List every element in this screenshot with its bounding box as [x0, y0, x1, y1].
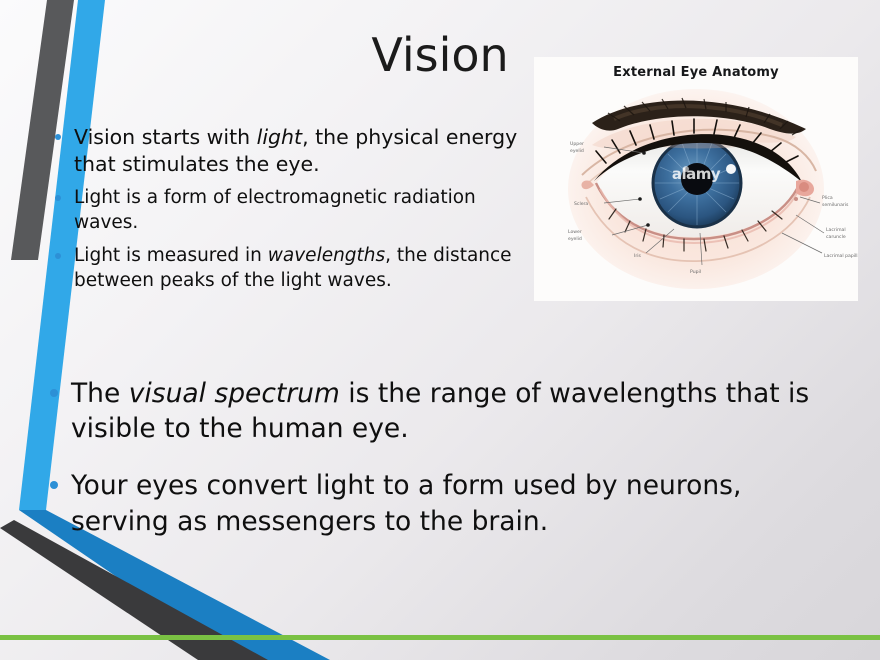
- svg-text:Lacrimal papilla: Lacrimal papilla: [824, 253, 858, 259]
- watermark: alamy: [534, 165, 858, 183]
- svg-text:Sclera: Sclera: [574, 201, 588, 207]
- emphasis-light: light: [257, 125, 302, 149]
- picture-caption: External Eye Anatomy: [534, 65, 858, 80]
- svg-text:eyelid: eyelid: [570, 148, 584, 154]
- green-accent-line: [0, 635, 880, 640]
- emphasis-wavelengths: wavelengths: [268, 245, 385, 266]
- svg-text:Lacrimal: Lacrimal: [826, 227, 846, 233]
- svg-text:eyelid: eyelid: [568, 236, 582, 242]
- bullet-text: The visual spectrum is the range of wave…: [71, 378, 809, 444]
- bullet-item: Light is measured in wavelengths, the di…: [46, 244, 518, 293]
- eye-anatomy-image: Uppereyelid Sclera Lowereyelid Iris Pupi…: [534, 57, 858, 301]
- svg-text:Upper: Upper: [570, 141, 584, 147]
- bullet-list-top: Vision starts with light, the physical e…: [46, 124, 518, 302]
- svg-text:Plica: Plica: [822, 195, 833, 201]
- svg-text:caruncle: caruncle: [826, 234, 846, 240]
- svg-text:Pupil: Pupil: [690, 269, 701, 275]
- slide-canvas: Vision: [0, 0, 880, 660]
- emphasis-visual-spectrum: visual spectrum: [129, 378, 340, 409]
- bullet-item: Vision starts with light, the physical e…: [46, 124, 518, 177]
- bullet-text: Your eyes convert light to a form used b…: [71, 470, 741, 536]
- bullet-text: Vision starts with light, the physical e…: [74, 125, 517, 176]
- bullet-item: Light is a form of electromagnetic radia…: [46, 186, 518, 235]
- svg-text:semilunaris: semilunaris: [822, 202, 849, 208]
- svg-text:Iris: Iris: [634, 253, 642, 259]
- bullet-item: Your eyes convert light to a form used b…: [40, 468, 830, 538]
- bullet-text: Light is a form of electromagnetic radia…: [74, 187, 476, 232]
- bullet-list-bottom: The visual spectrum is the range of wave…: [40, 376, 830, 561]
- bullet-text: Light is measured in wavelengths, the di…: [74, 245, 512, 290]
- bullet-item: The visual spectrum is the range of wave…: [40, 376, 830, 446]
- svg-text:Lower: Lower: [568, 229, 582, 235]
